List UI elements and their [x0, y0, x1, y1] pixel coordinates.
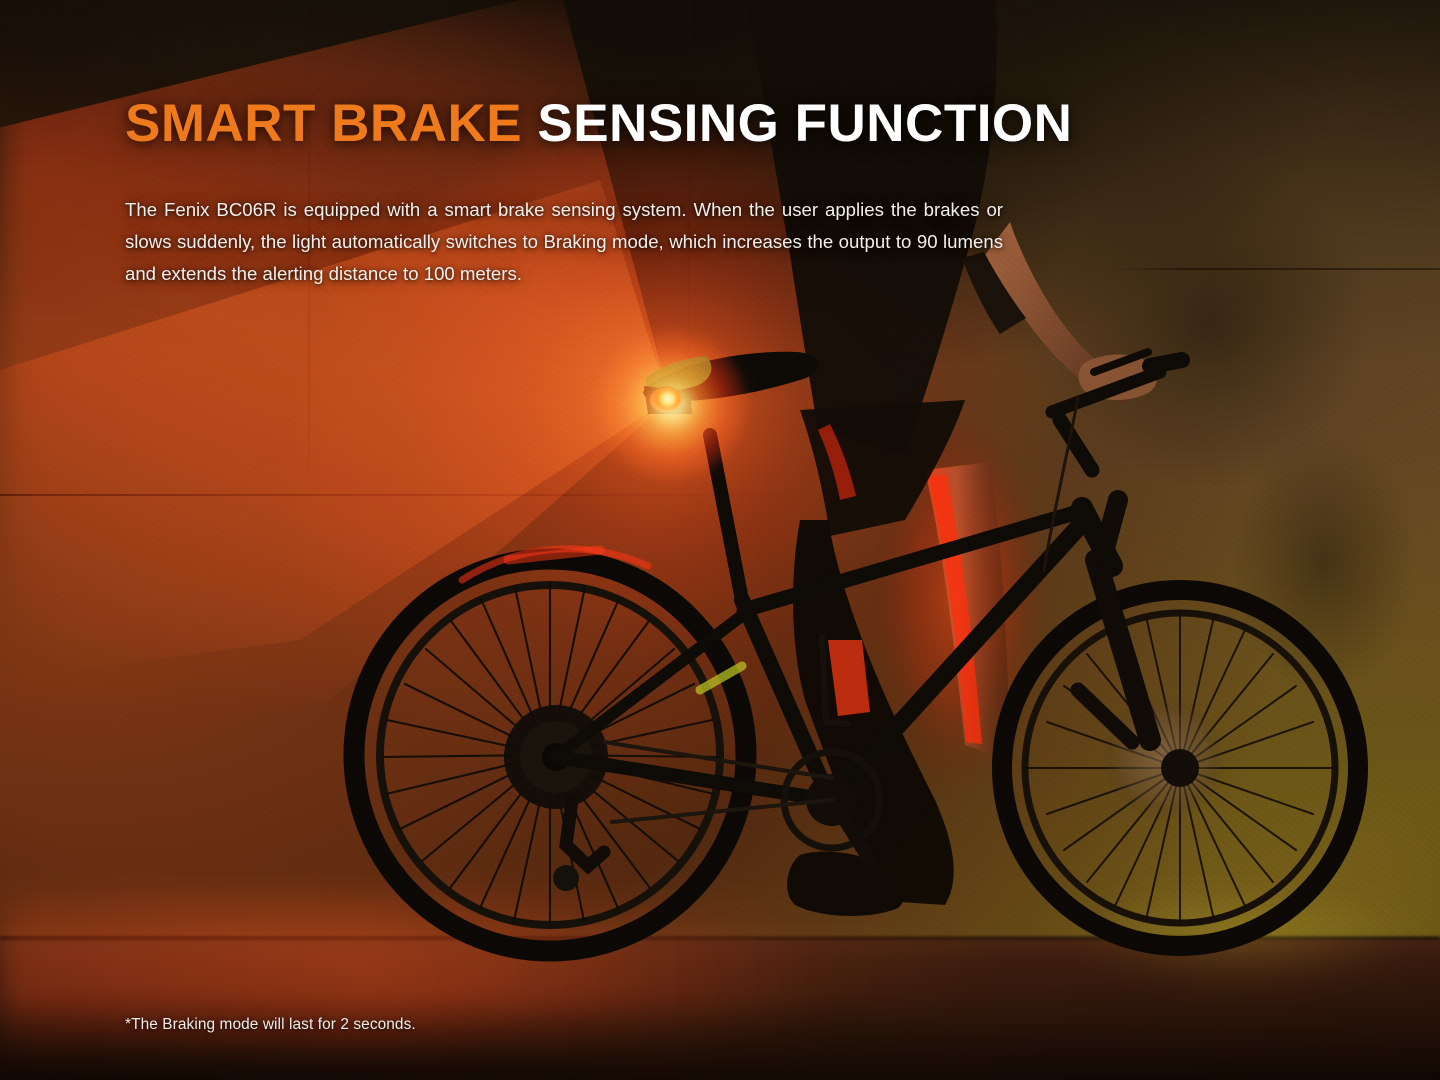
rear-wheel: [354, 549, 746, 951]
copy-block: SMART BRAKE SENSING FUNCTION The Fenix B…: [125, 96, 1007, 290]
product-feature-banner: SMART BRAKE SENSING FUNCTION The Fenix B…: [0, 0, 1440, 1080]
chain: [612, 800, 832, 822]
page-title: SMART BRAKE SENSING FUNCTION: [125, 96, 1007, 152]
front-wheel: [1002, 590, 1358, 946]
body-paragraph: The Fenix BC06R is equipped with a smart…: [125, 194, 1003, 290]
tail-light-hotspot: [655, 388, 681, 410]
headline-accent: SMART BRAKE: [125, 94, 522, 153]
headline-plain: SENSING FUNCTION: [537, 94, 1072, 153]
footnote: *The Braking mode will last for 2 second…: [125, 1016, 416, 1034]
